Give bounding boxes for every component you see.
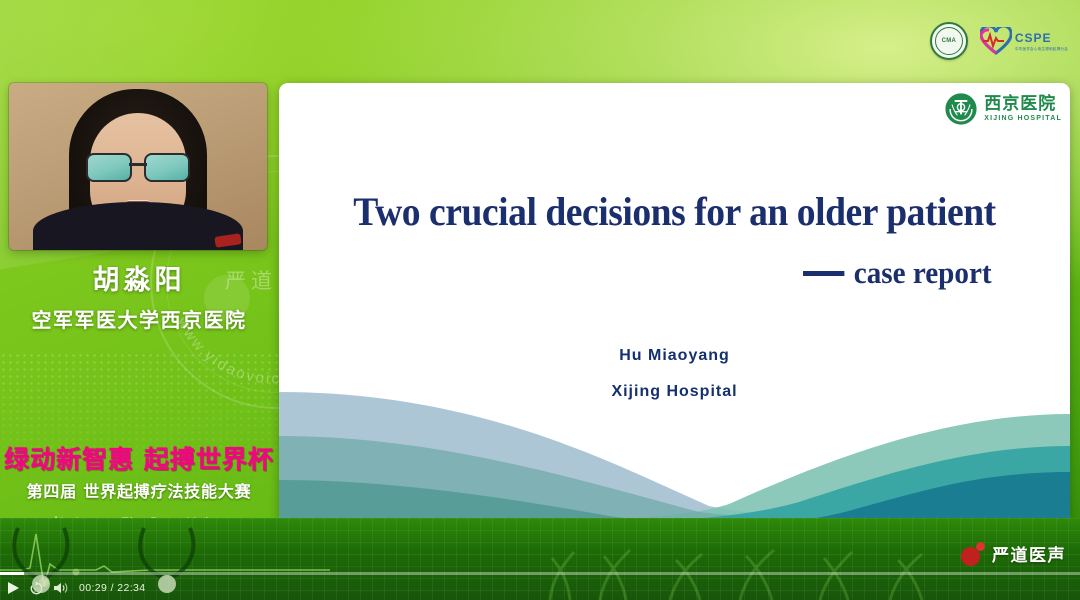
- slide-author: Hu Miaoyang: [279, 347, 1070, 365]
- yidao-watermark: 严道医声: [961, 541, 1066, 566]
- speaker-name: 胡淼阳: [0, 258, 278, 297]
- event-title: 绿动新智惠 起搏世界杯: [0, 440, 278, 476]
- glasses-bridge: [129, 163, 147, 166]
- video-player-stage: 严道医声 www.yidaovoice.cn 胡淼阳 空军军医大学西京医院 绿动…: [0, 0, 1080, 600]
- svg-text:10: 10: [33, 587, 39, 593]
- stethoscope-right-icon: [130, 522, 250, 600]
- xijing-emblem-icon: [943, 91, 979, 127]
- total-time: 22:34: [117, 582, 145, 594]
- cspe-heart-icon: [980, 27, 1012, 55]
- cspe-text-block: CSPE 中华医学会心电生理和起搏分会: [1015, 30, 1068, 52]
- skip-forward-10-icon[interactable]: 10: [29, 581, 44, 596]
- speaker-affiliation: 空军军医大学西京医院: [0, 304, 278, 333]
- grass-silhouette-decoration: [530, 538, 950, 600]
- cspe-logo: CSPE 中华医学会心电生理和起搏分会: [980, 27, 1068, 55]
- yidao-logo-icon: [961, 542, 985, 566]
- cspe-sublabel: 中华医学会心电生理和起搏分会: [1015, 48, 1068, 52]
- slide-title: Two crucial decisions for an older patie…: [329, 188, 1020, 235]
- video-time-display: 00:29 / 22:34: [79, 582, 146, 594]
- presenter-webcam-video[interactable]: [9, 83, 267, 250]
- bottom-decoration-band: [0, 518, 1080, 600]
- player-controls: 10 00:29 / 22:34: [6, 578, 146, 598]
- current-time: 00:29: [79, 582, 107, 594]
- xijing-logo-cn: 西京医院: [984, 94, 1056, 114]
- xijing-logo-en: XIJING HOSPITAL: [984, 115, 1062, 122]
- slide-subtitle: case report: [803, 255, 992, 291]
- glasses-left-lens: [86, 153, 132, 182]
- video-progress-fill: [0, 572, 24, 575]
- volume-icon[interactable]: [53, 581, 68, 595]
- cma-logo-icon: CMA: [930, 22, 968, 60]
- event-subtitle: 第四届 世界起搏疗法技能大赛: [0, 478, 278, 502]
- xijing-hospital-logo: 西京医院 XIJING HOSPITAL: [943, 91, 1062, 127]
- cma-logo-ring: [935, 27, 963, 55]
- time-separator: /: [111, 582, 114, 594]
- yidao-logo-small-dot: [976, 542, 985, 551]
- slide-wave-decoration: [279, 384, 1070, 524]
- presentation-slide[interactable]: 西京医院 XIJING HOSPITAL Two crucial decisio…: [279, 83, 1070, 524]
- em-dash-decoration: [803, 271, 844, 276]
- xijing-logo-text: 西京医院 XIJING HOSPITAL: [984, 96, 1062, 122]
- organization-logos: CMA CSPE 中华医学会心电生理和起搏分会: [930, 22, 1068, 60]
- presenter-glasses: [86, 153, 190, 179]
- yidao-watermark-text: 严道医声: [992, 541, 1066, 566]
- video-progress-bar[interactable]: [0, 572, 1080, 575]
- cspe-label: CSPE: [1015, 31, 1052, 45]
- glasses-right-lens: [144, 153, 190, 182]
- play-icon[interactable]: [6, 581, 20, 595]
- slide-subtitle-text: case report: [854, 255, 992, 290]
